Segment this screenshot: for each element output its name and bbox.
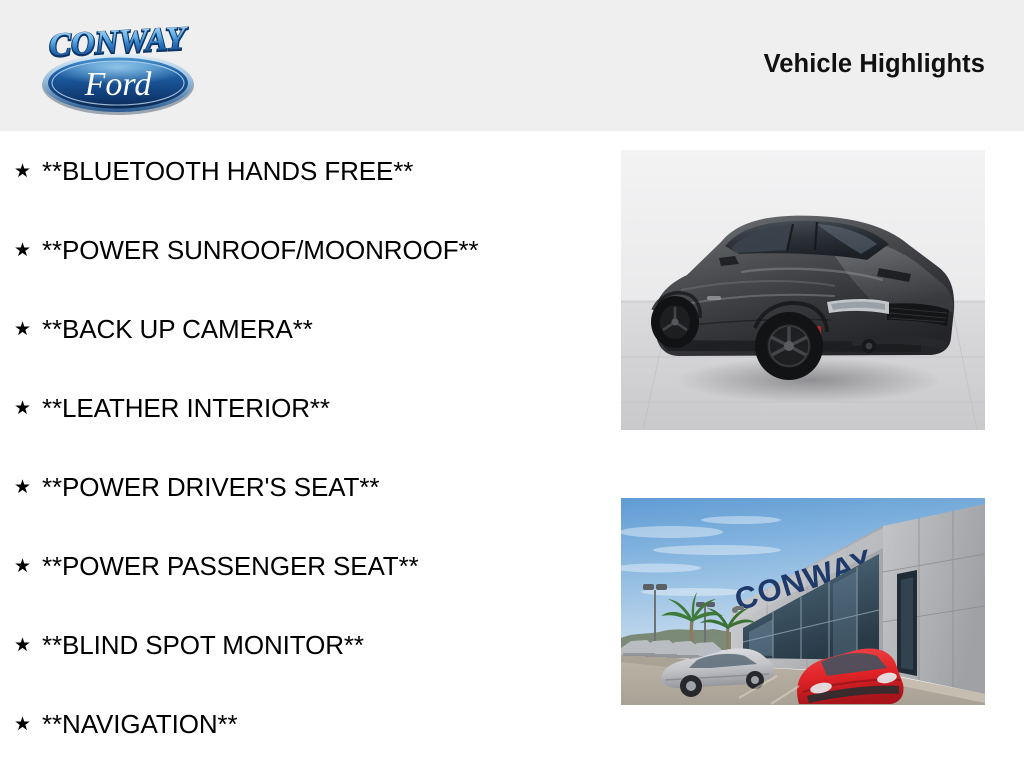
page-title: Vehicle Highlights: [764, 50, 985, 79]
dealership-photo[interactable]: CONWAY: [621, 498, 985, 705]
highlights-list: ★ **BLUETOOTH HANDS FREE** ★ **POWER SUN…: [0, 131, 600, 768]
star-icon: ★: [14, 162, 42, 181]
list-item: ★ **NAVIGATION**: [14, 709, 238, 739]
list-item: ★ **BLUETOOTH HANDS FREE**: [14, 156, 413, 186]
list-item-label: **BLIND SPOT MONITOR**: [42, 630, 364, 660]
list-item-label: **POWER SUNROOF/MOONROOF**: [42, 235, 479, 265]
vehicle-highlights-page: CONWAY CONWAY Ford Vehicle Highlights ★ …: [0, 0, 1024, 768]
svg-text:Ford: Ford: [84, 66, 153, 103]
star-icon: ★: [14, 715, 42, 734]
list-item: ★ **POWER DRIVER'S SEAT**: [14, 472, 379, 502]
list-item-label: **POWER DRIVER'S SEAT**: [42, 472, 379, 502]
logo-ford-oval: Ford: [42, 54, 194, 115]
list-item-label: **BLUETOOTH HANDS FREE**: [42, 156, 413, 186]
conway-ford-logo: CONWAY CONWAY Ford: [25, 13, 211, 117]
list-item: ★ **POWER PASSENGER SEAT**: [14, 551, 419, 581]
list-item-label: **LEATHER INTERIOR**: [42, 393, 330, 423]
star-icon: ★: [14, 557, 42, 576]
list-item-label: **BACK UP CAMERA**: [42, 314, 313, 344]
star-icon: ★: [14, 320, 42, 339]
star-icon: ★: [14, 399, 42, 418]
page-header: CONWAY CONWAY Ford Vehicle Highlights: [0, 0, 1024, 131]
star-icon: ★: [14, 241, 42, 260]
list-item: ★ **BLIND SPOT MONITOR**: [14, 630, 364, 660]
list-item-label: **NAVIGATION**: [42, 709, 238, 739]
list-item-label: **POWER PASSENGER SEAT**: [42, 551, 419, 581]
list-item: ★ **POWER SUNROOF/MOONROOF**: [14, 235, 479, 265]
list-item: ★ **LEATHER INTERIOR**: [14, 393, 330, 423]
star-icon: ★: [14, 636, 42, 655]
list-item: ★ **BACK UP CAMERA**: [14, 314, 313, 344]
star-icon: ★: [14, 478, 42, 497]
vehicle-photo[interactable]: [621, 150, 985, 430]
front-wheel: [755, 312, 823, 380]
